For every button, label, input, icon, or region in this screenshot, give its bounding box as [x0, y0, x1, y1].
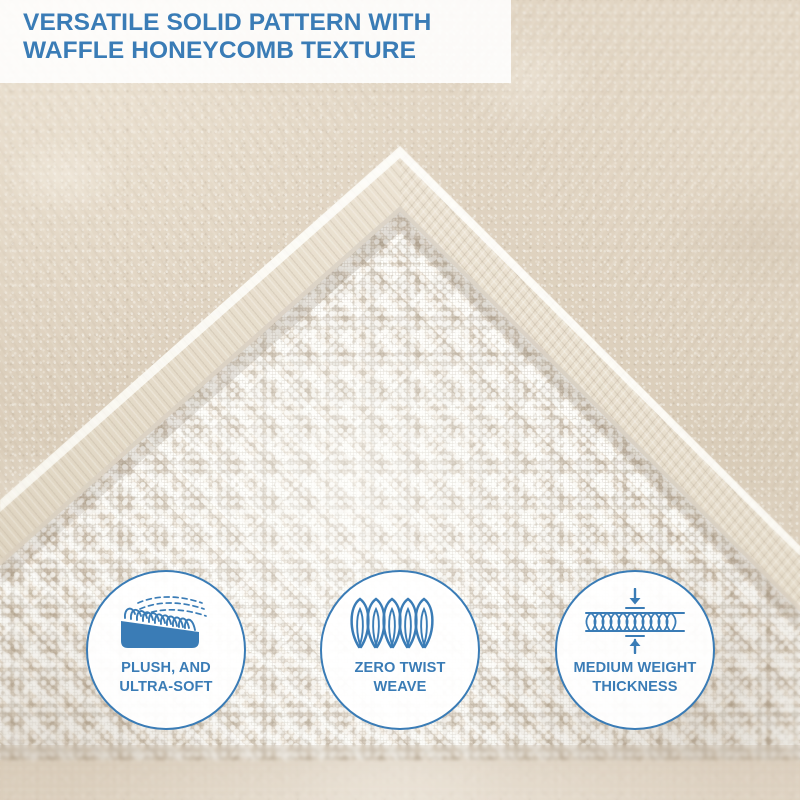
feature-badge-plush: PLUSH, AND ULTRA-SOFT: [86, 570, 246, 730]
feature-caption-thickness-line2: THICKNESS: [574, 678, 697, 697]
feature-caption-zero-twist-line2: WEAVE: [355, 678, 446, 697]
feature-caption-plush-line2: ULTRA-SOFT: [119, 678, 212, 697]
headline-panel: VERSATILE SOLID PATTERN WITH WAFFLE HONE…: [0, 0, 511, 83]
feature-caption-zero-twist: ZERO TWIST WEAVE: [355, 659, 446, 696]
feature-badge-row: PLUSH, AND ULTRA-SOFT: [0, 570, 800, 740]
headline-line-2: WAFFLE HONEYCOMB TEXTURE: [23, 37, 511, 65]
feature-caption-plush-line1: PLUSH, AND: [119, 659, 212, 678]
feature-badge-zero-twist: ZERO TWIST WEAVE: [320, 570, 480, 730]
feature-caption-thickness-line1: MEDIUM WEIGHT: [574, 659, 697, 678]
thickness-arrows-icon: [576, 590, 694, 652]
headline-line-1: VERSATILE SOLID PATTERN WITH: [23, 9, 511, 37]
feature-caption-thickness: MEDIUM WEIGHT THICKNESS: [574, 659, 697, 696]
feature-badge-thickness: MEDIUM WEIGHT THICKNESS: [555, 570, 715, 730]
product-infographic: VERSATILE SOLID PATTERN WITH WAFFLE HONE…: [0, 0, 800, 800]
plush-pile-fabric-icon: [110, 590, 222, 652]
feature-caption-plush: PLUSH, AND ULTRA-SOFT: [119, 659, 212, 696]
feature-caption-zero-twist-line1: ZERO TWIST: [355, 659, 446, 678]
zero-twist-yarn-loops-icon: [347, 590, 453, 652]
